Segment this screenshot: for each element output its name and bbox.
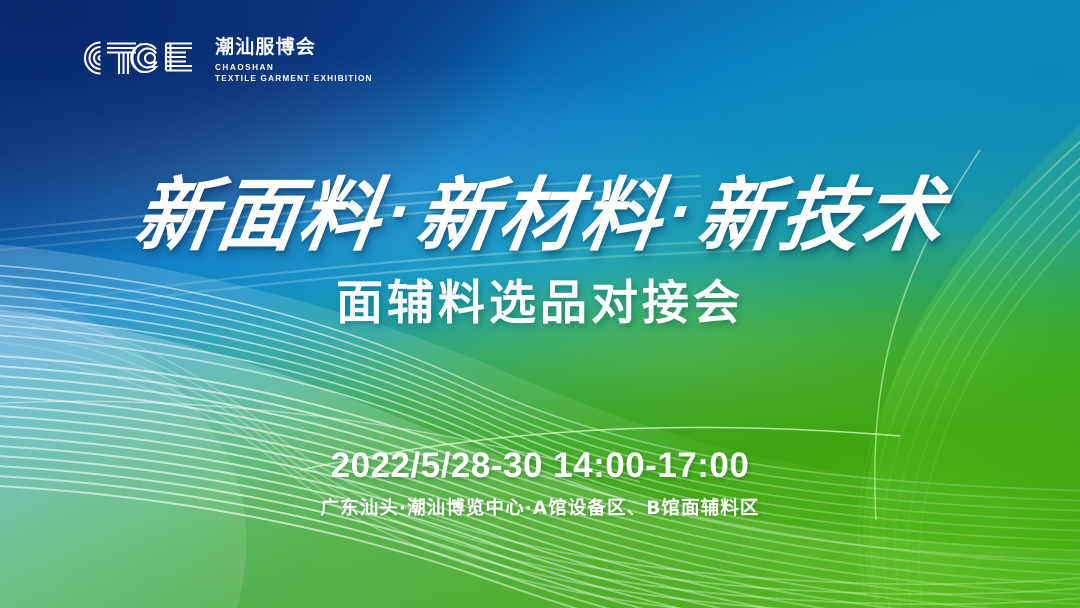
headline-part-1: 新面料 bbox=[129, 169, 388, 262]
ctge-logo: 潮汕服博会 CHAOSHAN TEXTILE GARMENT EXHIBITIO… bbox=[74, 33, 373, 88]
logo-english-line2: TEXTILE GARMENT EXHIBITION bbox=[215, 73, 373, 84]
event-banner: 潮汕服博会 CHAOSHAN TEXTILE GARMENT EXHIBITIO… bbox=[0, 0, 1080, 608]
logo-text-block: 潮汕服博会 CHAOSHAN TEXTILE GARMENT EXHIBITIO… bbox=[215, 33, 373, 84]
ctge-striped-wordmark-icon bbox=[74, 33, 202, 88]
subtitle: 面辅料选品对接会 bbox=[0, 280, 1080, 327]
logo-chinese-name: 潮汕服博会 bbox=[215, 37, 373, 59]
headline-part-2: 新材料 bbox=[411, 169, 670, 262]
headline-part-3: 新技术 bbox=[692, 169, 951, 262]
logo-english-line1: CHAOSHAN bbox=[215, 62, 373, 73]
headline: 新面料·新材料·新技术 bbox=[0, 176, 1080, 256]
event-datetime: 2022/5/28-30 14:00-17:00 bbox=[0, 448, 1080, 483]
event-venue: 广东汕头·潮汕博览中心·A馆设备区、B馆面辅料区 bbox=[0, 500, 1080, 519]
